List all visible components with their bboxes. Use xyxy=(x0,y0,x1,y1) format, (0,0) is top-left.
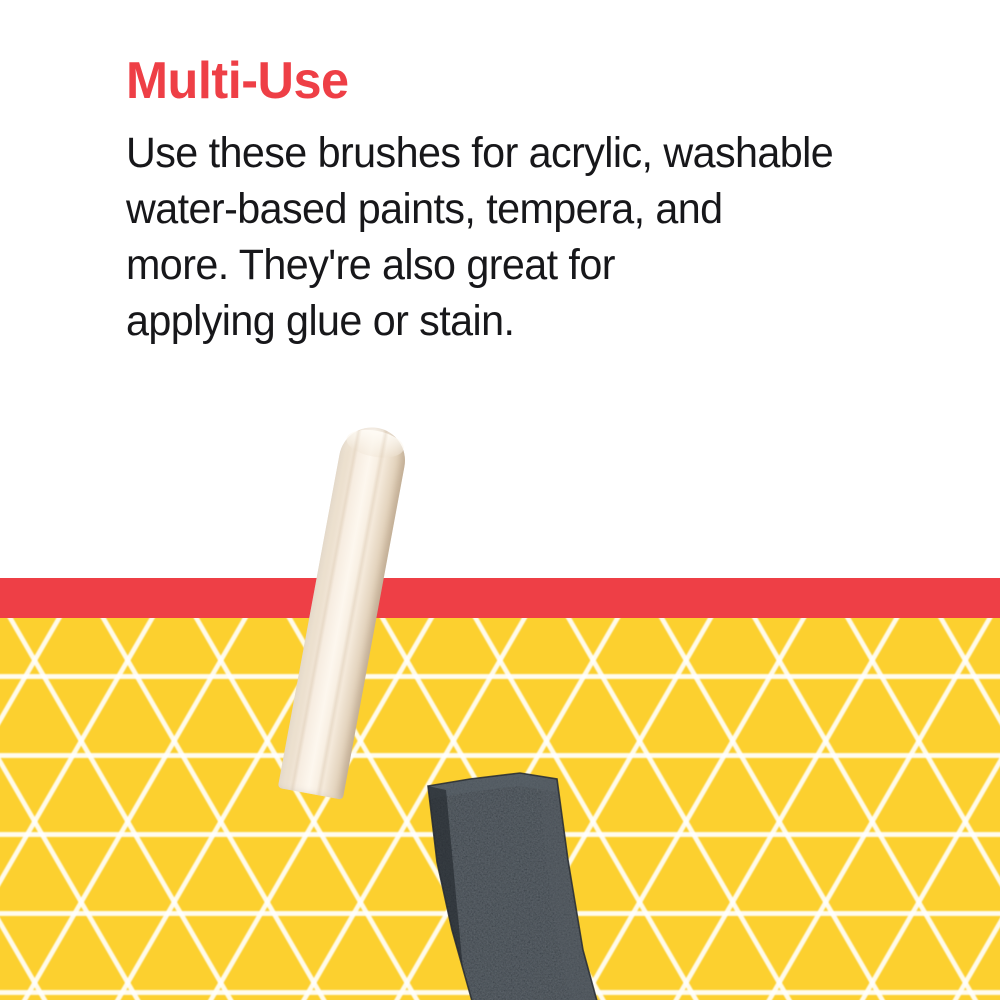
handle-top-highlight xyxy=(344,426,406,462)
red-divider-band xyxy=(0,578,1000,618)
copy-block: Multi-Use Use these brushes for acrylic,… xyxy=(126,54,916,349)
triangle-lattice-pattern xyxy=(0,618,1000,1000)
product-feature-card: Multi-Use Use these brushes for acrylic,… xyxy=(0,0,1000,1000)
description-text: Use these brushes for acrylic, washable … xyxy=(126,125,884,349)
yellow-triangle-pattern-panel xyxy=(0,618,1000,1000)
page-title: Multi-Use xyxy=(126,54,892,109)
